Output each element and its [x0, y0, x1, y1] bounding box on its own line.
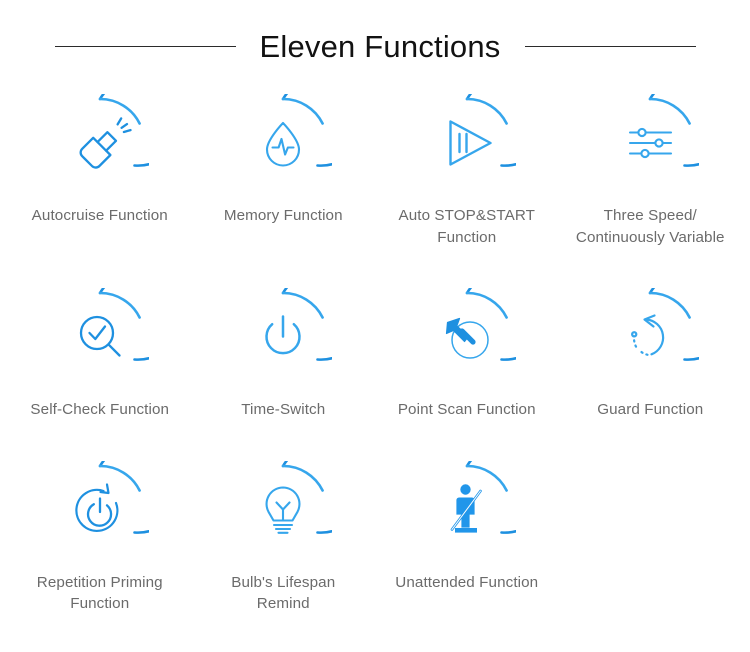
function-label: Auto STOP&START Function	[398, 205, 535, 248]
function-item-guard[interactable]: Guard Function	[559, 288, 743, 421]
function-item-unattended[interactable]: Unattended Function	[375, 461, 559, 615]
functions-row-3: Repetition Priming Function B	[8, 461, 742, 615]
function-item-memory[interactable]: Memory Function	[192, 94, 376, 248]
function-item-autocruise[interactable]: Autocruise Function	[8, 94, 192, 248]
functions-row-2: Self-Check Function Time-Switch	[8, 288, 742, 421]
header-rule-right	[525, 46, 696, 47]
header-rule-left	[55, 46, 236, 47]
functions-grid: Autocruise Function Memory Function	[0, 94, 750, 615]
power-icon	[234, 288, 332, 386]
function-label: Three Speed/ Continuously Variable	[576, 205, 725, 248]
flashlight-icon	[51, 94, 149, 192]
function-item-auto-stop-start[interactable]: Auto STOP&START Function	[375, 94, 559, 248]
power-refresh-icon	[51, 461, 149, 559]
function-label: Autocruise Function	[32, 205, 168, 227]
sliders-icon	[601, 94, 699, 192]
function-label: Self-Check Function	[30, 399, 169, 421]
magnifier-check-icon	[51, 288, 149, 386]
functions-row-1: Autocruise Function Memory Function	[8, 94, 742, 248]
function-item-point-scan[interactable]: Point Scan Function	[375, 288, 559, 421]
water-drop-pulse-icon	[234, 94, 332, 192]
page-title: Eleven Functions	[260, 31, 501, 62]
play-pause-icon	[418, 94, 516, 192]
function-item-bulb-lifespan[interactable]: Bulb's Lifespan Remind	[192, 461, 376, 615]
function-label: Bulb's Lifespan Remind	[231, 572, 335, 615]
point-scan-arrow-icon	[418, 288, 516, 386]
function-item-self-check[interactable]: Self-Check Function	[8, 288, 192, 421]
function-label: Unattended Function	[395, 572, 538, 594]
function-label: Time-Switch	[241, 399, 325, 421]
function-label: Guard Function	[597, 399, 703, 421]
lightbulb-icon	[234, 461, 332, 559]
undo-arrow-icon	[601, 288, 699, 386]
function-item-three-speed[interactable]: Three Speed/ Continuously Variable	[559, 94, 743, 248]
function-item-repetition-priming[interactable]: Repetition Priming Function	[8, 461, 192, 615]
person-slash-icon	[418, 461, 516, 559]
function-label: Memory Function	[224, 205, 343, 227]
function-item-time-switch[interactable]: Time-Switch	[192, 288, 376, 421]
function-label: Point Scan Function	[398, 399, 536, 421]
page-header: Eleven Functions	[0, 0, 750, 78]
function-label: Repetition Priming Function	[37, 572, 163, 615]
function-item-empty-slot	[559, 461, 743, 615]
